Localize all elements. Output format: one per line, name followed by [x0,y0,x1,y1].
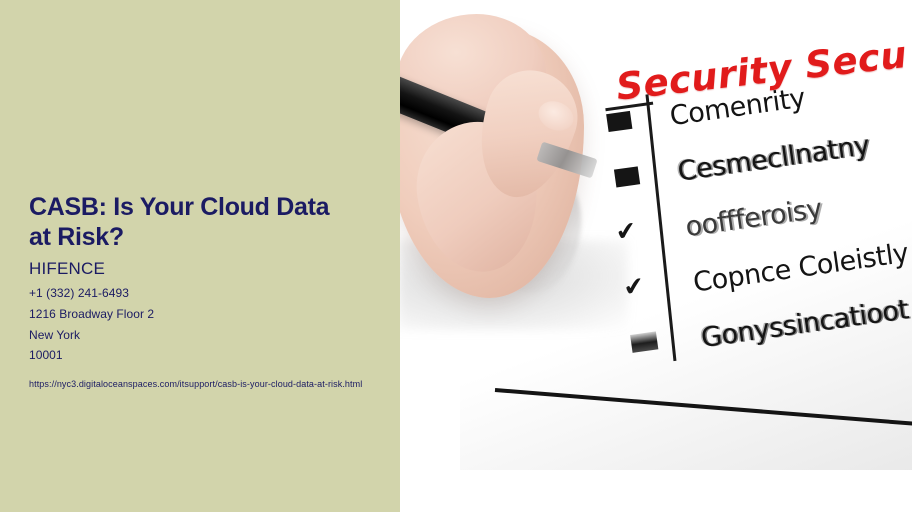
left-info-panel: CASB: Is Your Cloud Data at Risk? HIFENC… [0,0,400,512]
brand-name: HIFENCE [29,258,374,279]
text-block: CASB: Is Your Cloud Data at Risk? HIFENC… [29,193,374,394]
contact-street: 1216 Broadway Floor 2 [29,304,374,325]
source-url[interactable]: https://nyc3.digitaloceanspaces.com/itsu… [29,374,363,394]
page-title: CASB: Is Your Cloud Data at Risk? [29,193,349,252]
contact-zip: 10001 [29,345,374,366]
checkbox-icon [630,331,658,352]
contact-phone: +1 (332) 241-6493 [29,283,374,304]
photo-panel: Security Secu Comenrity Cesmecllnatny ✔ … [400,0,912,512]
hand-holding-pen [400,4,638,324]
promo-card: CASB: Is Your Cloud Data at Risk? HIFENC… [0,0,912,512]
checklist-row-label: Comenrity [668,83,807,133]
checklist-row-label: ooffferoisy [684,193,824,243]
contact-city: New York [29,325,374,346]
